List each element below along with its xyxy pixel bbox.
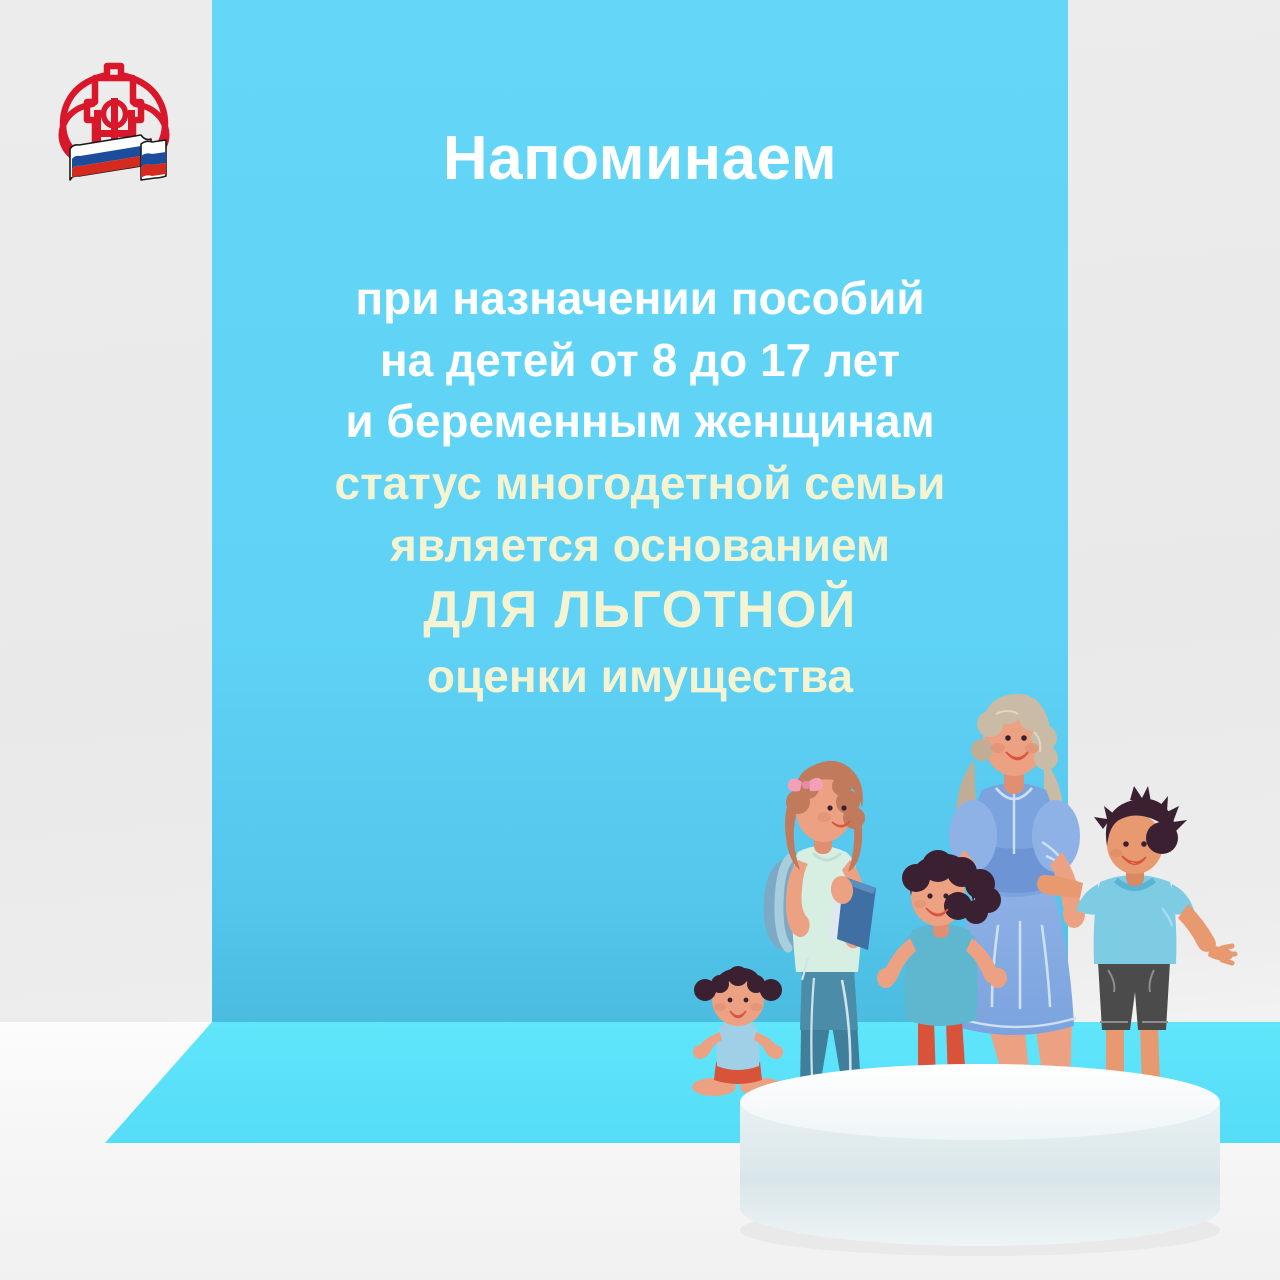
body-line-6: ДЛЯ ЛЬГОТНОЙ [212,576,1068,646]
body-text-block: при назначении пособий на детей от 8 до … [212,268,1068,707]
body-line-3: и беременным женщинам [212,391,1068,453]
family-illustration [690,690,1280,1280]
poster: Напоминаем при назначении пособий на дет… [0,0,1280,1280]
page-title: Напоминаем [212,126,1068,191]
body-line-4: статус многодетной семьи [212,453,1068,515]
podium [740,1064,1220,1256]
russian-flag-icon [70,135,166,180]
body-line-2: на детей от 8 до 17 лет [212,330,1068,392]
pfr-logo [44,58,184,198]
figure-young-girl [877,850,1007,1091]
figure-baby [692,966,784,1096]
body-line-1: при назначении пособий [212,268,1068,330]
body-line-5: является основанием [212,515,1068,577]
